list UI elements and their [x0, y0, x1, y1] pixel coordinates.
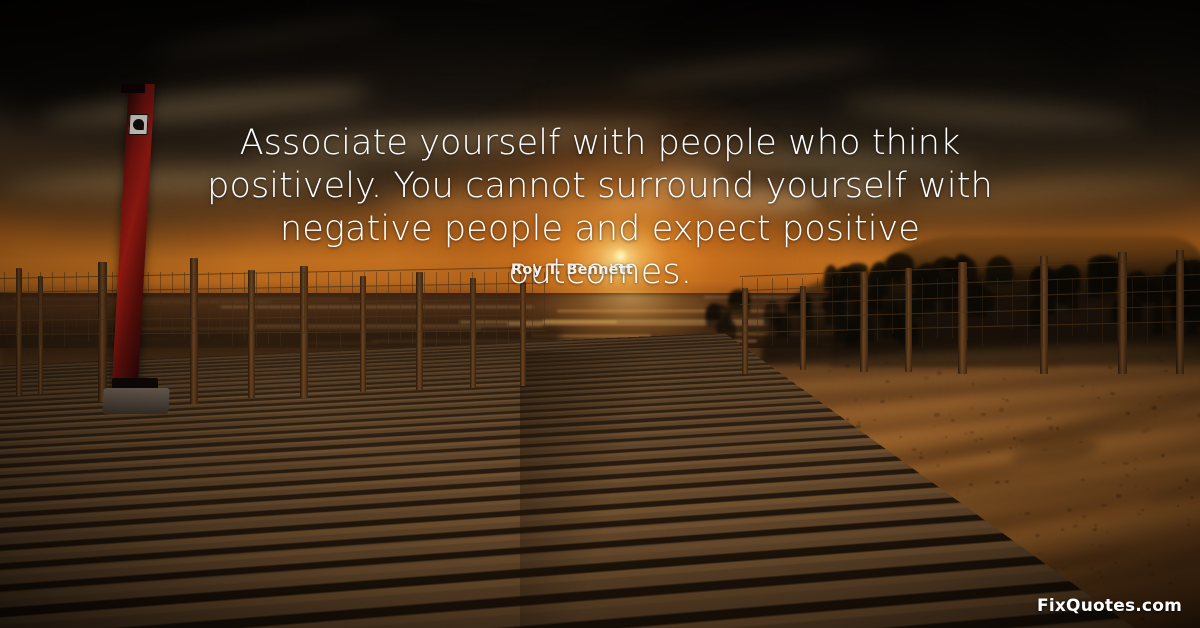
fence-mesh-wire — [772, 278, 773, 346]
sand-speck — [1114, 562, 1117, 564]
fence-mesh-wire — [787, 278, 788, 343]
fence-mesh-wire — [388, 272, 389, 344]
fence-mesh-wire — [1162, 278, 1163, 337]
sand-speck — [1125, 474, 1129, 477]
sand-speck — [1147, 563, 1151, 566]
sand-speck — [885, 380, 890, 383]
fence-mesh-wire — [208, 272, 209, 337]
sand-speck — [1164, 370, 1168, 373]
fence-mesh-wire — [244, 272, 245, 339]
fence-mesh-wire — [1072, 278, 1073, 336]
fence-mesh-wire — [544, 272, 545, 328]
fence-mesh-wire — [1012, 278, 1013, 329]
fence-mesh-wire — [304, 272, 305, 332]
sand-speck — [1019, 513, 1021, 514]
fence-mesh-wire — [967, 278, 968, 340]
fence-mesh-wire — [88, 272, 89, 342]
fence-post — [800, 286, 806, 370]
site-watermark: FixQuotes.com — [1037, 596, 1182, 616]
sand-speck — [934, 413, 940, 417]
sand-speck — [1055, 568, 1056, 569]
fence-mesh-wire — [1132, 278, 1133, 337]
fence-mesh-wire — [448, 272, 449, 336]
sand-speck — [981, 413, 986, 416]
fence-mesh-wire — [64, 272, 65, 346]
sand-speck — [1138, 403, 1141, 405]
sand-speck — [1135, 486, 1138, 488]
fence-mesh-wire — [742, 278, 743, 331]
fence-mesh-wire — [1057, 278, 1058, 346]
sand-speck — [1116, 494, 1121, 498]
fence-mesh-wire — [922, 278, 923, 347]
sand-speck — [1082, 515, 1086, 518]
fence-mesh-wire — [1042, 278, 1043, 347]
red-marker-post-base — [102, 388, 169, 414]
sand-speck — [1061, 567, 1065, 570]
sand-speck — [1093, 528, 1097, 531]
fence-post — [958, 262, 967, 374]
sand-speck — [1013, 437, 1017, 440]
sand-speck — [1094, 524, 1098, 527]
sand-speck — [1098, 544, 1103, 548]
sand-speck — [1092, 384, 1094, 385]
fence-mesh-wire — [424, 272, 425, 348]
fence-mesh-wire — [1087, 278, 1088, 332]
sand-speck — [1046, 417, 1051, 421]
sand-speck — [1108, 366, 1113, 369]
fence-mesh-wire — [907, 278, 908, 347]
fence-mesh-wire — [877, 278, 878, 341]
sand-speck — [1110, 392, 1115, 396]
sand-speck — [999, 408, 1004, 411]
sand-speck — [1005, 429, 1006, 430]
fence-mesh-wire — [256, 272, 257, 346]
marker-sign-icon — [128, 114, 148, 135]
sand-speck — [1119, 484, 1123, 487]
fence-post — [1118, 252, 1127, 374]
sand-speck — [1139, 460, 1140, 461]
sand-speck — [1098, 571, 1101, 573]
fence-mesh-wire — [220, 272, 221, 333]
sand-speck — [937, 371, 942, 375]
sand-speck — [1089, 567, 1094, 570]
fence-mesh-wire — [376, 272, 377, 330]
sand-speck — [1157, 396, 1160, 398]
fence-mesh-wire — [496, 272, 497, 344]
fence-mesh-wire — [436, 272, 437, 347]
sand-speck — [1003, 378, 1006, 380]
fence-mesh-wire — [148, 272, 149, 330]
setting-sun — [612, 249, 629, 264]
fence-mesh-wire — [862, 278, 863, 331]
fence-mesh-wire — [316, 272, 317, 348]
fence-mesh-wire — [508, 272, 509, 344]
fence-mesh-wire — [4, 272, 5, 333]
sand-speck — [1135, 458, 1137, 460]
fence-mesh-wire — [40, 272, 41, 345]
sand-speck — [1042, 448, 1046, 451]
fence-post — [470, 278, 476, 388]
sand-speck — [1140, 617, 1145, 620]
sand-speck — [1158, 357, 1160, 358]
fence-mesh-wire — [160, 272, 161, 329]
sand-speck — [924, 376, 929, 380]
fence-mesh-wire — [1147, 278, 1148, 344]
sand-speck — [951, 419, 955, 422]
fence-mesh-wire — [400, 272, 401, 339]
sand-speck — [1177, 505, 1179, 506]
sand-speck — [919, 456, 924, 459]
sand-speck — [1056, 427, 1059, 429]
fence-mesh-wire — [52, 272, 53, 339]
fence-mesh-wire — [1177, 278, 1178, 343]
fence-mesh-wire — [76, 272, 77, 329]
sand-speck — [1151, 406, 1156, 410]
wave-line — [255, 325, 543, 327]
sand-speck — [828, 370, 831, 372]
fence-mesh-wire — [997, 278, 998, 326]
fence-mesh-wire — [832, 278, 833, 334]
fence-mesh-wire — [232, 272, 233, 345]
sand-speck — [1187, 524, 1190, 526]
sand-speck — [855, 399, 857, 400]
sand-speck — [1002, 398, 1004, 399]
dune-grass — [824, 265, 838, 292]
sand-speck — [980, 438, 983, 440]
sand-speck — [1147, 489, 1148, 490]
fence-post — [248, 270, 255, 398]
fence-mesh-wire — [532, 272, 533, 337]
fence-mesh-wire — [472, 272, 473, 339]
fence-mesh-wire — [484, 272, 485, 334]
fence-mesh-wire — [112, 272, 113, 342]
dune-grass — [825, 309, 842, 325]
sand-speck — [1061, 528, 1065, 531]
sand-speck — [933, 425, 935, 427]
sand-speck — [1025, 512, 1029, 515]
fence-mesh-wire — [28, 272, 29, 335]
fence-mesh-wire — [847, 278, 848, 331]
fence-mesh-wire — [352, 272, 353, 330]
sand-speck — [970, 431, 974, 434]
fence-mesh-wire — [196, 272, 197, 331]
fence-mesh-wire — [280, 272, 281, 345]
fence-mesh-wire — [172, 272, 173, 334]
boardwalk-edge-shadow — [520, 352, 770, 628]
fence-mesh-wire — [757, 278, 758, 335]
fence-mesh-wire — [892, 278, 893, 333]
fence-mesh-wire — [952, 278, 953, 338]
sand-speck — [1155, 415, 1157, 416]
fence-mesh-wire — [292, 272, 293, 334]
fence-mesh-wire — [268, 272, 269, 344]
sand-speck — [1126, 412, 1130, 415]
dune-grass — [930, 257, 960, 290]
fence-mesh-wire — [412, 272, 413, 344]
sand-speck — [972, 383, 975, 385]
fence-mesh-wire — [328, 272, 329, 333]
sand-speck — [873, 419, 875, 421]
sand-speck — [1169, 582, 1172, 584]
sand-speck — [1079, 441, 1083, 444]
fence-mesh-wire — [364, 272, 365, 331]
fence-mesh-wire — [802, 278, 803, 338]
sand-speck — [964, 432, 968, 435]
sand-speck — [969, 483, 973, 486]
fence-mesh-wire — [1102, 278, 1103, 344]
fence-mesh-wire — [184, 272, 185, 337]
fence-post — [360, 276, 366, 392]
quote-poster: Associate yourself with people who think… — [0, 0, 1200, 628]
fence-mesh-wire — [937, 278, 938, 338]
fence-mesh-wire — [817, 278, 818, 345]
fence-mesh-wire — [1027, 278, 1028, 344]
fence-mesh-wire — [16, 272, 17, 337]
sand-speck — [1136, 428, 1138, 429]
fence-mesh-wire — [520, 272, 521, 334]
dune-grass — [1126, 297, 1143, 323]
sand-speck — [1076, 520, 1078, 522]
fence-mesh-wire — [982, 278, 983, 346]
fence-mesh-wire — [100, 272, 101, 343]
sand-speck — [1049, 426, 1054, 429]
sand-speck — [1100, 576, 1102, 578]
red-marker-post-tip — [121, 84, 146, 93]
fence-mesh-wire — [340, 272, 341, 348]
fence-mesh-wire — [460, 272, 461, 345]
sand-speck — [1089, 591, 1091, 593]
fence-mesh-wire — [1117, 278, 1118, 341]
sand-speck — [1185, 479, 1189, 482]
